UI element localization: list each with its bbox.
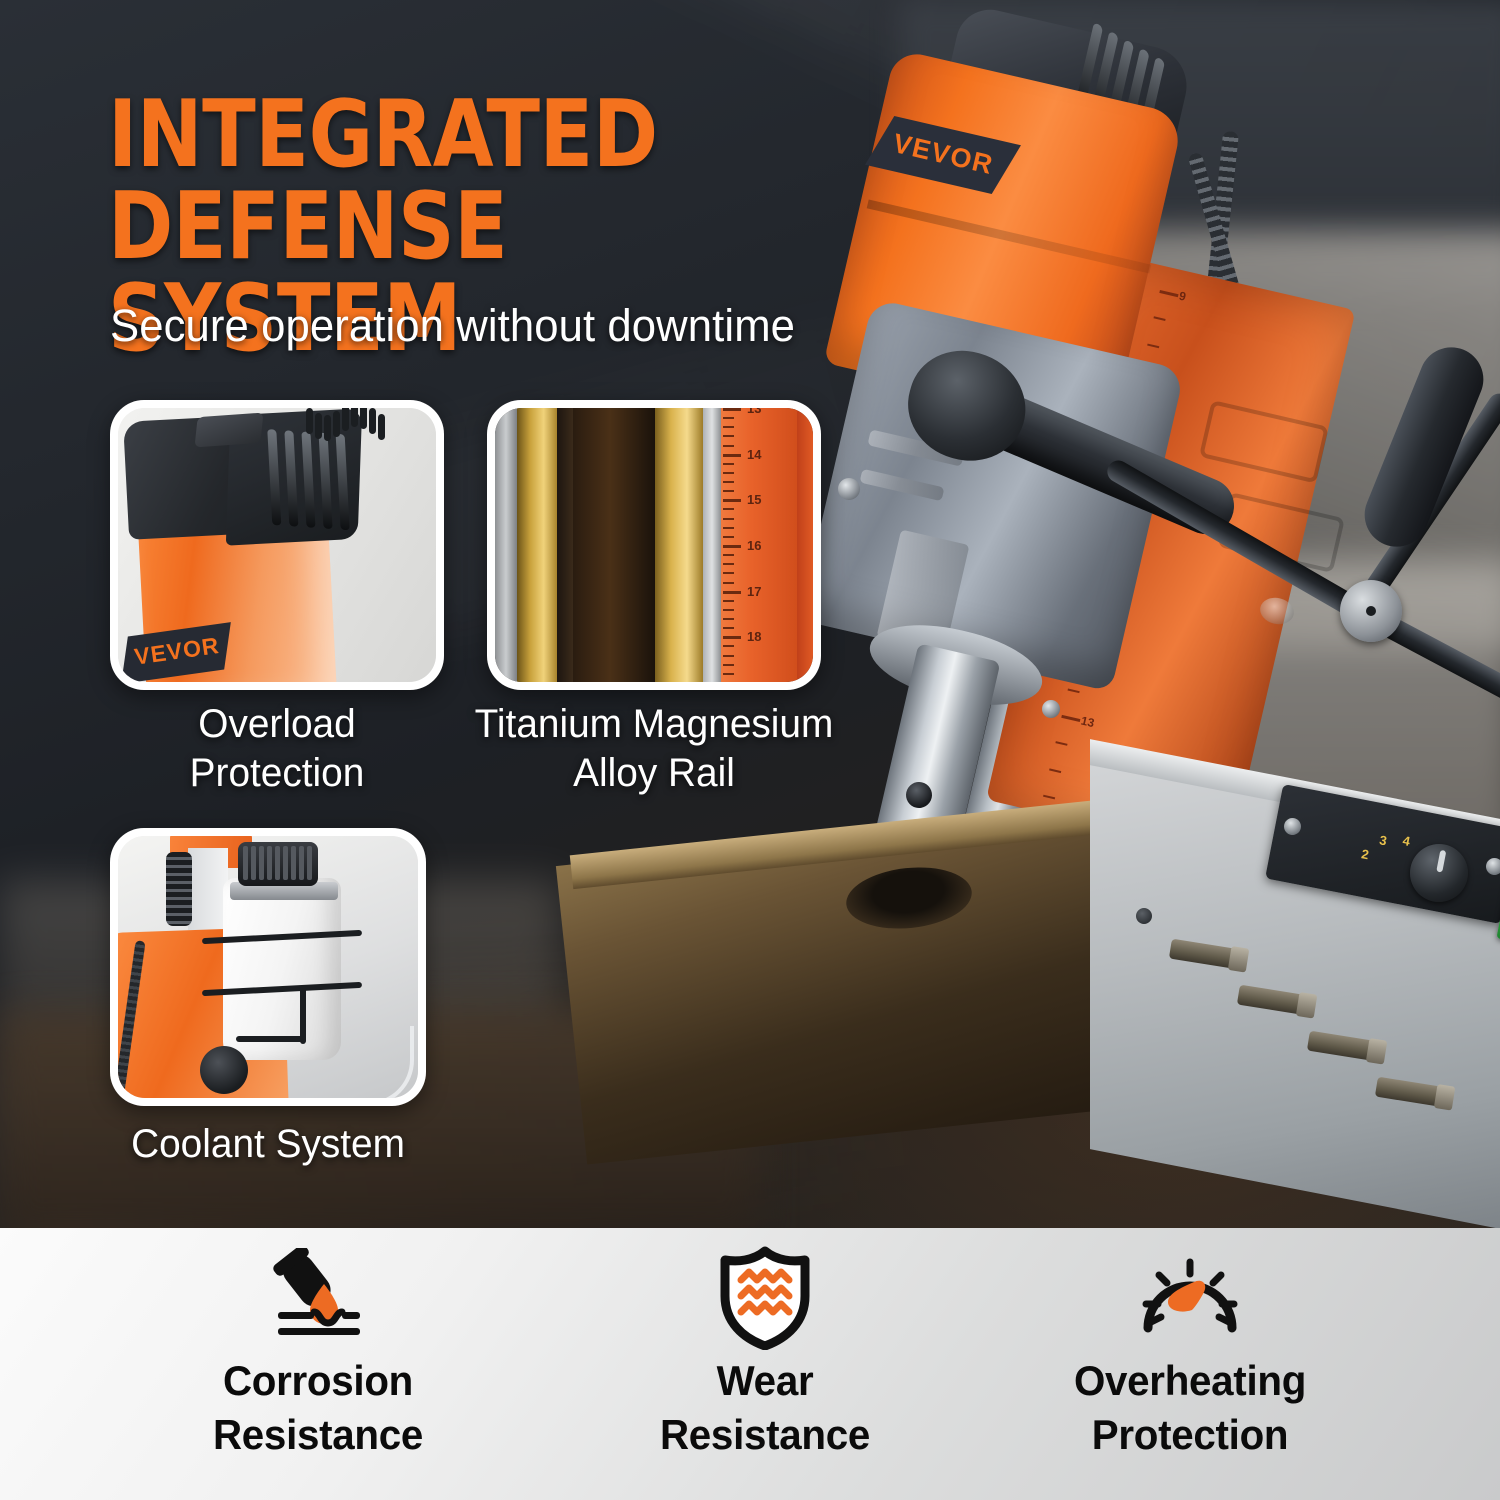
label-line-2: Resistance	[563, 1408, 966, 1462]
rail-shadow-area	[573, 408, 655, 682]
feature-label-wear: Wear Resistance	[563, 1354, 966, 1462]
feature-card-image: VEVOR	[118, 408, 436, 682]
rail-scale-numbers: 131415161718	[747, 408, 781, 682]
overheating-gauge-icon	[980, 1242, 1400, 1354]
feature-card-image: 131415161718	[495, 408, 813, 682]
feature-card-image	[118, 836, 418, 1098]
rack-background	[188, 848, 228, 930]
label-line-1: Wear	[563, 1354, 966, 1408]
coolant-bottle-cap	[238, 842, 318, 886]
feature-label-overheating: Overheating Protection	[988, 1354, 1391, 1462]
label-line-2: Resistance	[116, 1408, 519, 1462]
motor-cap-tab	[194, 413, 263, 448]
feature-label-corrosion: Corrosion Resistance	[116, 1354, 519, 1462]
feed-lever-hub-center	[1366, 606, 1376, 616]
housing-screw	[1042, 700, 1060, 718]
caption-line-2: Alloy Rail	[458, 749, 850, 798]
wear-shield-icon	[555, 1242, 975, 1354]
motor-vent-slots	[267, 429, 358, 531]
label-line-1: Corrosion	[116, 1354, 519, 1408]
feature-item-overheating-protection: Overheating Protection	[980, 1242, 1400, 1462]
bottom-feature-bar: Corrosion Resistance Wear Resistance	[0, 1228, 1500, 1500]
rail-dark-gap	[557, 408, 573, 682]
caption-line-2: Protection	[115, 749, 439, 798]
brand-logo-text: VEVOR	[890, 128, 996, 181]
label-line-2: Protection	[988, 1408, 1391, 1462]
feature-item-wear-resistance: Wear Resistance	[555, 1242, 975, 1462]
card-image-background	[118, 836, 418, 1098]
brand-logo-text: VEVOR	[133, 632, 221, 671]
power-cord-coil	[306, 408, 396, 444]
feature-card-coolant-system	[110, 828, 426, 1106]
feature-card-caption-overload: Overload Protection	[115, 700, 439, 798]
feature-card-caption-rail: Titanium Magnesium Alloy Rail	[458, 700, 850, 798]
rail-steel-strip	[703, 408, 721, 682]
card-image-background: 131415161718	[495, 408, 813, 682]
caption-line-1: Coolant System	[95, 1120, 440, 1169]
coolant-valve-knob	[200, 1046, 248, 1094]
coolant-tube	[318, 1026, 414, 1098]
feature-card-caption-coolant: Coolant System	[95, 1120, 440, 1169]
rail-red-edge	[797, 408, 813, 682]
magnet-body-pin	[1136, 908, 1152, 924]
rail-scale-ticks	[723, 408, 749, 682]
rack-spring	[166, 852, 192, 926]
caption-line-1: Titanium Magnesium	[458, 700, 850, 749]
corrosion-drop-icon	[108, 1242, 528, 1354]
feature-card-overload-protection: VEVOR	[110, 400, 444, 690]
bottle-holder-wire	[236, 1036, 306, 1042]
hero-section: 910111213 VEVOR	[0, 0, 1500, 1228]
rail-gold-strip	[517, 408, 557, 682]
label-line-1: Overheating	[988, 1354, 1391, 1408]
rail-steel-strip	[495, 408, 517, 682]
caption-line-1: Overload	[115, 700, 439, 749]
page-subtitle: Secure operation without downtime	[110, 300, 795, 352]
feature-card-alloy-rail: 131415161718	[487, 400, 821, 690]
rail-gold-strip	[655, 408, 703, 682]
housing-screw	[838, 478, 860, 500]
feature-item-corrosion-resistance: Corrosion Resistance	[108, 1242, 528, 1462]
